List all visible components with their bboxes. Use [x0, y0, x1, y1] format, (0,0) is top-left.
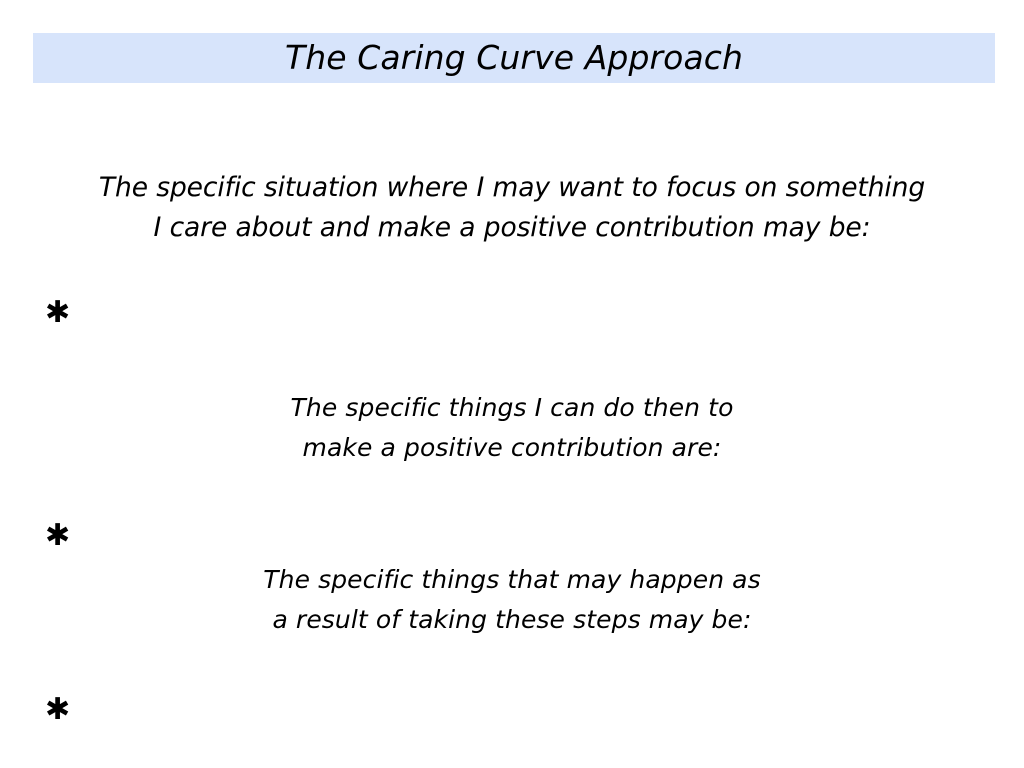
prompt-line: The specific things that may happen as — [0, 560, 1024, 600]
asterisk-icon: ✱ — [45, 298, 70, 328]
prompt-line: I care about and make a positive contrib… — [0, 208, 1024, 248]
prompt-line: The specific things I can do then to — [0, 388, 1024, 428]
prompt-block-situation: The specific situation where I may want … — [0, 168, 1024, 248]
asterisk-icon: ✱ — [45, 521, 70, 551]
slide-canvas: The Caring Curve Approach The specific s… — [0, 0, 1024, 768]
slide-title-band: The Caring Curve Approach — [33, 33, 995, 83]
prompt-block-outcomes: The specific things that may happen as a… — [0, 560, 1024, 640]
prompt-line: make a positive contribution are: — [0, 428, 1024, 468]
page-title: The Caring Curve Approach — [285, 41, 743, 74]
prompt-line: The specific situation where I may want … — [0, 168, 1024, 208]
prompt-line: a result of taking these steps may be: — [0, 600, 1024, 640]
asterisk-icon: ✱ — [45, 695, 70, 725]
prompt-block-actions: The specific things I can do then to mak… — [0, 388, 1024, 468]
